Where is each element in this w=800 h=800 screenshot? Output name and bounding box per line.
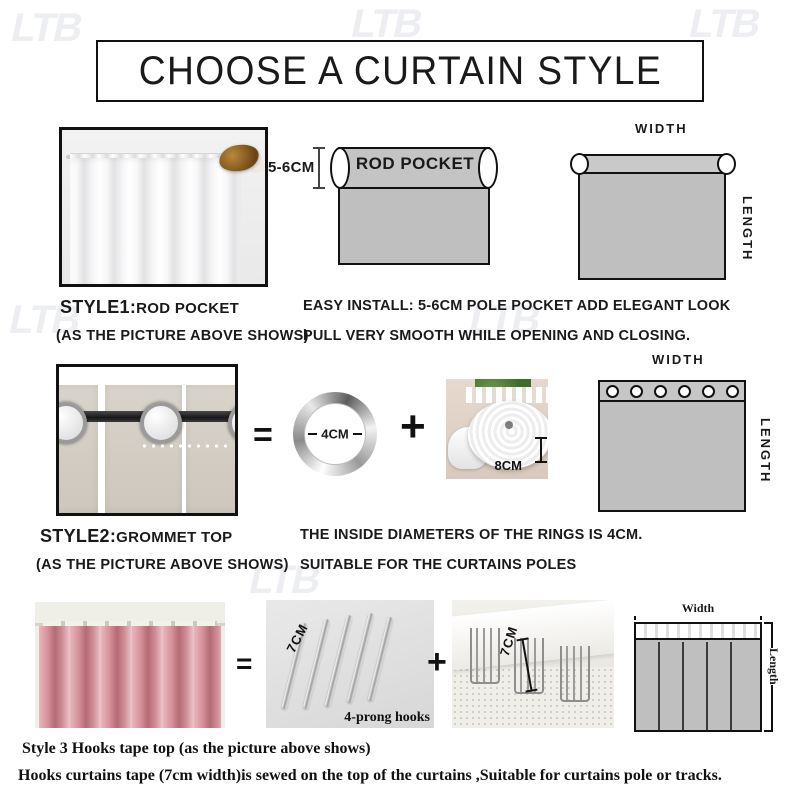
style1-text-line2: PULL VERY SMOOTH WHILE OPENING AND CLOSI… [303, 328, 690, 344]
grommet-hole-icon [654, 385, 667, 398]
grommet-hole-icon [678, 385, 691, 398]
style2-text-line1: THE INSIDE DIAMETERS OF THE RINGS IS 4CM… [300, 527, 643, 543]
measurement-dotted-line [140, 444, 228, 448]
equals-sign-style2: = [253, 418, 273, 452]
style2-caption: STYLE2:GROMMET TOP [40, 526, 232, 547]
inserted-hook-icon [470, 628, 500, 684]
rod-pocket-rail-shape [578, 154, 726, 174]
rod-end-right-icon [717, 153, 736, 175]
rod-pocket-diagram: ROD POCKET [330, 141, 498, 266]
inserted-hook-icon [560, 646, 590, 702]
style1-text-line1: EASY INSTALL: 5-6CM POLE POCKET ADD ELEG… [303, 298, 730, 314]
watermark-logo: LTB [686, 4, 763, 44]
linen-curtain-panel [186, 385, 238, 513]
watermark-logo: LTB [8, 8, 85, 48]
pocket-opening-right-icon [478, 147, 498, 189]
curtain-body-shape [338, 185, 490, 265]
style2-text-line2: SUITABLE FOR THE CURTAINS POLES [300, 557, 576, 573]
style3-text-line1: Hooks curtains tape (7cm width)is sewed … [18, 767, 722, 785]
rod-pocket-photo [59, 127, 268, 287]
watermark-logo: LTB [348, 4, 425, 44]
rod-end-left-icon [570, 153, 589, 175]
grommet-hole-icon [702, 385, 715, 398]
pleat-fold-line [706, 642, 708, 730]
grommet-measure-diagram [592, 372, 752, 512]
tape-width-label: 8CM [495, 458, 522, 473]
pleat-fold-line [658, 642, 660, 730]
four-prong-hooks-photo: 7CM 4-prong hooks [266, 600, 434, 728]
grommet-hole-icon [726, 385, 739, 398]
pleated-curtain-photo [35, 602, 225, 728]
rod-pocket-measure-diagram [572, 140, 732, 283]
style1-caption-type: ROD POCKET [136, 300, 239, 317]
width-label-style3: Width [634, 601, 762, 616]
hook-tape-strip-shape [634, 622, 762, 640]
style1-caption-title: STYLE1 [60, 297, 130, 317]
style2-caption-title: STYLE2 [40, 526, 110, 546]
rod-pocket-dimension-label: 5-6CM [268, 159, 315, 176]
style2-caption-type: GROMMET TOP [116, 529, 232, 546]
tape-roll-photo: 8CM [446, 379, 548, 479]
grommet-hole-icon [630, 385, 643, 398]
style2-caption-sub: (AS THE PICTURE ABOVE SHOWS) [36, 557, 289, 573]
equals-sign-style3: = [236, 650, 252, 678]
grommet-header-strip [598, 380, 746, 402]
grommet-hole-icon [606, 385, 619, 398]
width-label-style2: WIDTH [652, 352, 705, 367]
dimension-arrow-icon [318, 147, 320, 189]
style1-caption-sub: (AS THE PICTURE ABOVE SHOWS) [56, 328, 309, 344]
four-prong-hooks-label: 4-prong hooks [344, 710, 430, 726]
ring-diameter-label: 4CM [293, 427, 377, 442]
length-label-style1: LENGTH [740, 196, 755, 261]
grommet-ring-icon [140, 402, 182, 444]
pocket-opening-left-icon [330, 147, 350, 189]
pink-pleated-fabric [39, 626, 221, 728]
tape-dimension-arrow-icon [540, 437, 542, 463]
grommet-ring-diagram: 4CM [293, 392, 377, 476]
length-label-style2: LENGTH [758, 418, 773, 483]
hook-tape-measure-diagram: Width Length [626, 600, 778, 733]
plus-sign-style3: + [427, 645, 447, 679]
style1-caption: STYLE1:ROD POCKET [60, 297, 239, 318]
white-curtain-fabric [70, 158, 241, 284]
grommet-top-photo [56, 364, 238, 516]
plus-sign-style2: + [400, 405, 426, 449]
style3-caption: Style 3 Hooks tape top (as the picture a… [22, 740, 371, 758]
infographic-page: LTB LTB LTB LTB LTB LTB CHOOSE A CURTAIN… [0, 0, 800, 800]
pleat-fold-line [730, 642, 732, 730]
curtain-panel-shape [598, 398, 746, 512]
pleat-fold-line [682, 642, 684, 730]
page-title: CHOOSE A CURTAIN STYLE [138, 49, 661, 94]
page-title-box: CHOOSE A CURTAIN STYLE [96, 40, 704, 102]
width-label-style1: WIDTH [635, 121, 688, 136]
hooks-on-tape-photo: 7CM [452, 600, 614, 728]
rod-pocket-diagram-label: ROD POCKET [352, 154, 478, 174]
length-label-style3: Length [766, 648, 781, 685]
